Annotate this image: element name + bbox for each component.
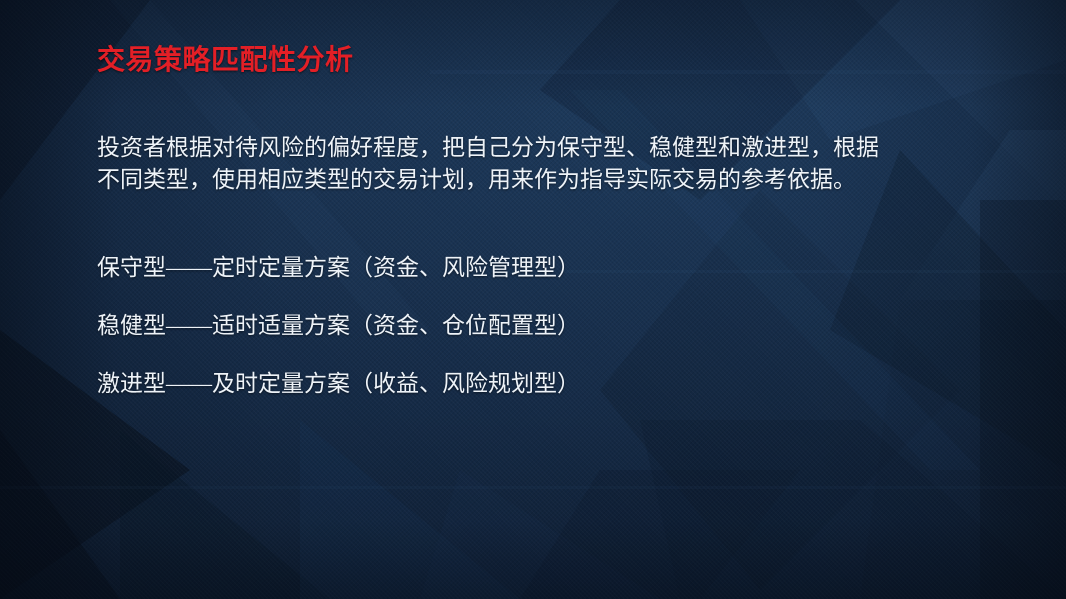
slide-body-block: 投资者根据对待风险的偏好程度，把自己分为保守型、稳健型和激进型，根据不同类型，使… bbox=[97, 132, 887, 196]
slide-title: 交易策略匹配性分析 bbox=[97, 43, 354, 78]
bullet-item-moderate: 稳健型——适时适量方案（资金、仓位配置型） bbox=[97, 310, 580, 342]
presentation-slide: 交易策略匹配性分析 投资者根据对待风险的偏好程度，把自己分为保守型、稳健型和激进… bbox=[0, 0, 1066, 599]
bullet-item-conservative: 保守型——定时定量方案（资金、风险管理型） bbox=[97, 252, 580, 284]
slide-content: 交易策略匹配性分析 投资者根据对待风险的偏好程度，把自己分为保守型、稳健型和激进… bbox=[0, 0, 1066, 599]
intro-paragraph: 投资者根据对待风险的偏好程度，把自己分为保守型、稳健型和激进型，根据不同类型，使… bbox=[97, 132, 887, 196]
bullet-item-aggressive: 激进型——及时定量方案（收益、风险规划型） bbox=[97, 368, 580, 400]
